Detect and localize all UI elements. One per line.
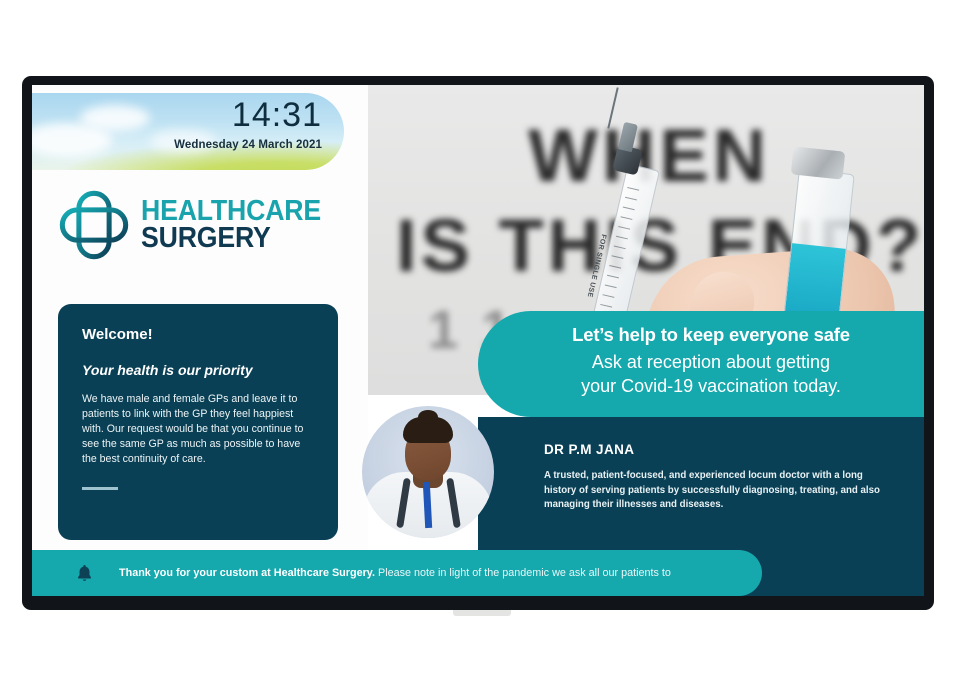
ticker-teal-area: Thank you for your custom at Healthcare … [32, 550, 762, 596]
vaccination-banner: Let’s help to keep everyone safe Ask at … [478, 311, 924, 417]
brand-logo-text: HEALTHCARE SURGERY [141, 198, 337, 252]
doctor-panel: DR P.M JANA A trusted, patient-focused, … [478, 417, 924, 559]
welcome-subtitle: Your health is our priority [82, 362, 314, 378]
ticker-bold-text: Thank you for your custom at Healthcare … [119, 567, 375, 579]
clock-time: 14:31 [232, 98, 322, 132]
vial-cap [791, 146, 846, 179]
doctor-bio: A trusted, patient-focused, and experien… [544, 469, 896, 513]
vaccination-banner-line3: your Covid-19 vaccination today. [524, 376, 898, 397]
ticker-light-text: Please note in light of the pandemic we … [378, 567, 671, 579]
ticker-bar: Thank you for your custom at Healthcare … [32, 550, 924, 596]
medical-cross-interlocking-icon [58, 189, 130, 261]
brand-logo-line2: SURGERY [141, 225, 321, 252]
doctor-portrait-avatar [362, 406, 494, 538]
vaccination-banner-line1: Let’s help to keep everyone safe [524, 324, 898, 346]
clock-date: Wednesday 24 March 2021 [174, 139, 322, 151]
welcome-body-text: We have male and female GPs and leave it… [82, 392, 314, 467]
left-column: 14:31 Wednesday 24 March 2021 HEALTHCARE… [32, 85, 368, 596]
welcome-divider [82, 487, 118, 490]
bell-icon [76, 564, 93, 583]
vaccination-banner-line2: Ask at reception about getting [524, 352, 898, 373]
welcome-title: Welcome! [82, 326, 314, 343]
welcome-card: Welcome! Your health is our priority We … [58, 304, 338, 540]
monitor-bezel: 14:31 Wednesday 24 March 2021 HEALTHCARE… [22, 76, 934, 610]
cloud-shape [80, 105, 150, 131]
ticker-text: Thank you for your custom at Healthcare … [119, 567, 671, 579]
avatar-hair-bun [418, 410, 438, 424]
doctor-name: DR P.M JANA [544, 442, 634, 457]
digital-signage-screen: 14:31 Wednesday 24 March 2021 HEALTHCARE… [32, 85, 924, 596]
brand-logo-line1: HEALTHCARE [141, 198, 321, 225]
brand-logo: HEALTHCARE SURGERY [58, 189, 337, 261]
clock-banner: 14:31 Wednesday 24 March 2021 [32, 93, 344, 170]
